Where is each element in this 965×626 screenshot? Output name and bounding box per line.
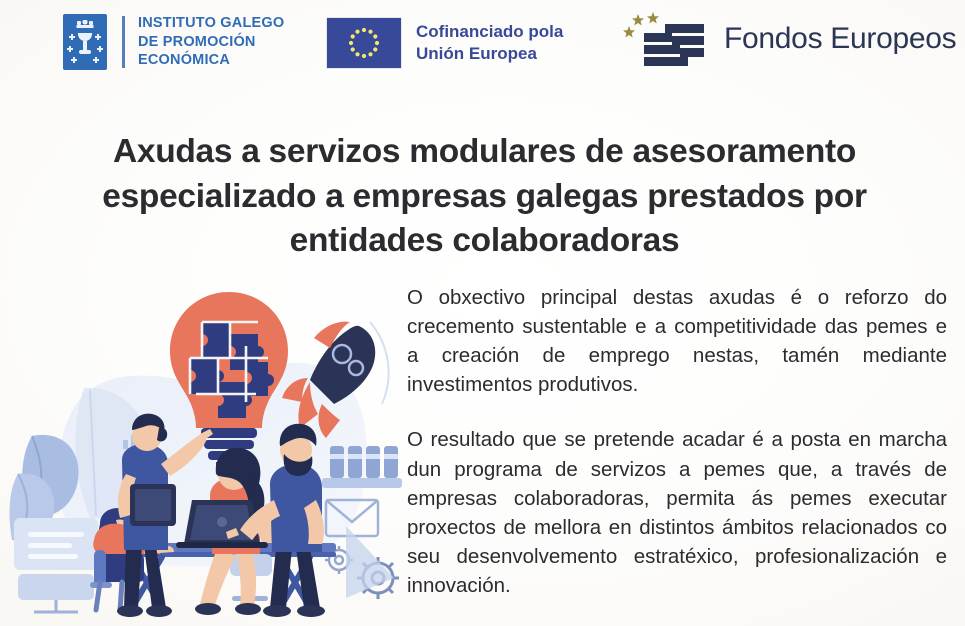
eu-logo-text: Cofinanciado pola Unión Europea [416, 21, 563, 65]
igape-logo-text: INSTITUTO GALEGO DE PROMOCIÓN ECONÓMICA [138, 14, 284, 70]
fondos-europeos-label: Fondos Europeos [724, 22, 956, 56]
stepped-bars-stars-icon [620, 8, 712, 70]
xunta-de-galicia-coat-of-arms-icon [63, 14, 107, 70]
logo-bar: INSTITUTO GALEGO DE PROMOCIÓN ECONÓMICA [0, 0, 965, 92]
body-paragraph-1: O obxectivo principal destas axudas é o … [407, 283, 947, 399]
european-union-logo: Cofinanciado pola Unión Europea [326, 17, 563, 69]
logo-divider [122, 16, 125, 68]
igape-logo: INSTITUTO GALEGO DE PROMOCIÓN ECONÓMICA [63, 14, 284, 70]
fondos-europeos-logo: Fondos Europeos [620, 8, 956, 70]
team-collaboration-illustration [4, 278, 404, 626]
body-paragraph-2: O resultado que se pretende acadar é a p… [407, 425, 947, 600]
eu-flag-icon [326, 17, 402, 69]
eu-line-2: Unión Europea [416, 43, 563, 65]
eu-line-1: Cofinanciado pola [416, 21, 563, 43]
body-text-column: O obxectivo principal destas axudas é o … [407, 283, 947, 600]
igape-line-1: INSTITUTO GALEGO [138, 14, 284, 33]
page-title: Axudas a servizos modulares de asesorame… [42, 130, 927, 263]
poster-page: INSTITUTO GALEGO DE PROMOCIÓN ECONÓMICA [0, 0, 965, 626]
igape-line-3: ECONÓMICA [138, 51, 284, 70]
igape-line-2: DE PROMOCIÓN [138, 33, 284, 52]
